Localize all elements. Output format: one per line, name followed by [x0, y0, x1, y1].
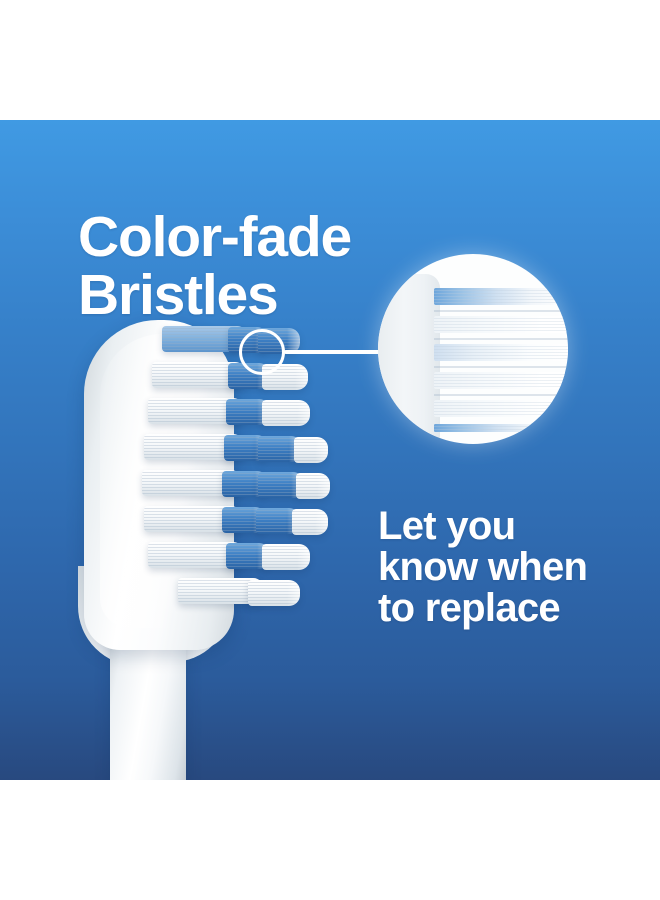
bristle-indicator-highlight-ring	[239, 329, 285, 375]
letterbox-bar-bottom	[0, 780, 660, 900]
blue-gradient-background: Color-fade Bristles Let you know when to…	[0, 120, 660, 780]
subheadline: Let you know when to replace	[378, 506, 587, 629]
magnified-brush-head	[378, 274, 440, 444]
bristle-tuft	[248, 580, 300, 606]
bristle-tuft	[294, 437, 328, 463]
magnified-bristle-row	[434, 288, 568, 305]
page-title: Color-fade Bristles	[78, 208, 351, 324]
bristle-closeup-magnifier	[378, 254, 568, 444]
magnified-bristle-row	[434, 372, 568, 389]
bristle-tuft	[292, 509, 328, 535]
product-feature-image: Color-fade Bristles Let you know when to…	[0, 0, 660, 900]
letterbox-bar-top	[0, 0, 660, 120]
magnified-bristle-row	[434, 424, 568, 432]
bristle-tuft	[262, 544, 310, 570]
magnified-bristle-row	[434, 316, 568, 333]
magnified-bristle-row	[434, 344, 568, 361]
bristle-tuft	[262, 400, 310, 426]
magnified-bristle-row	[434, 400, 568, 417]
bristle-tuft	[296, 473, 330, 499]
